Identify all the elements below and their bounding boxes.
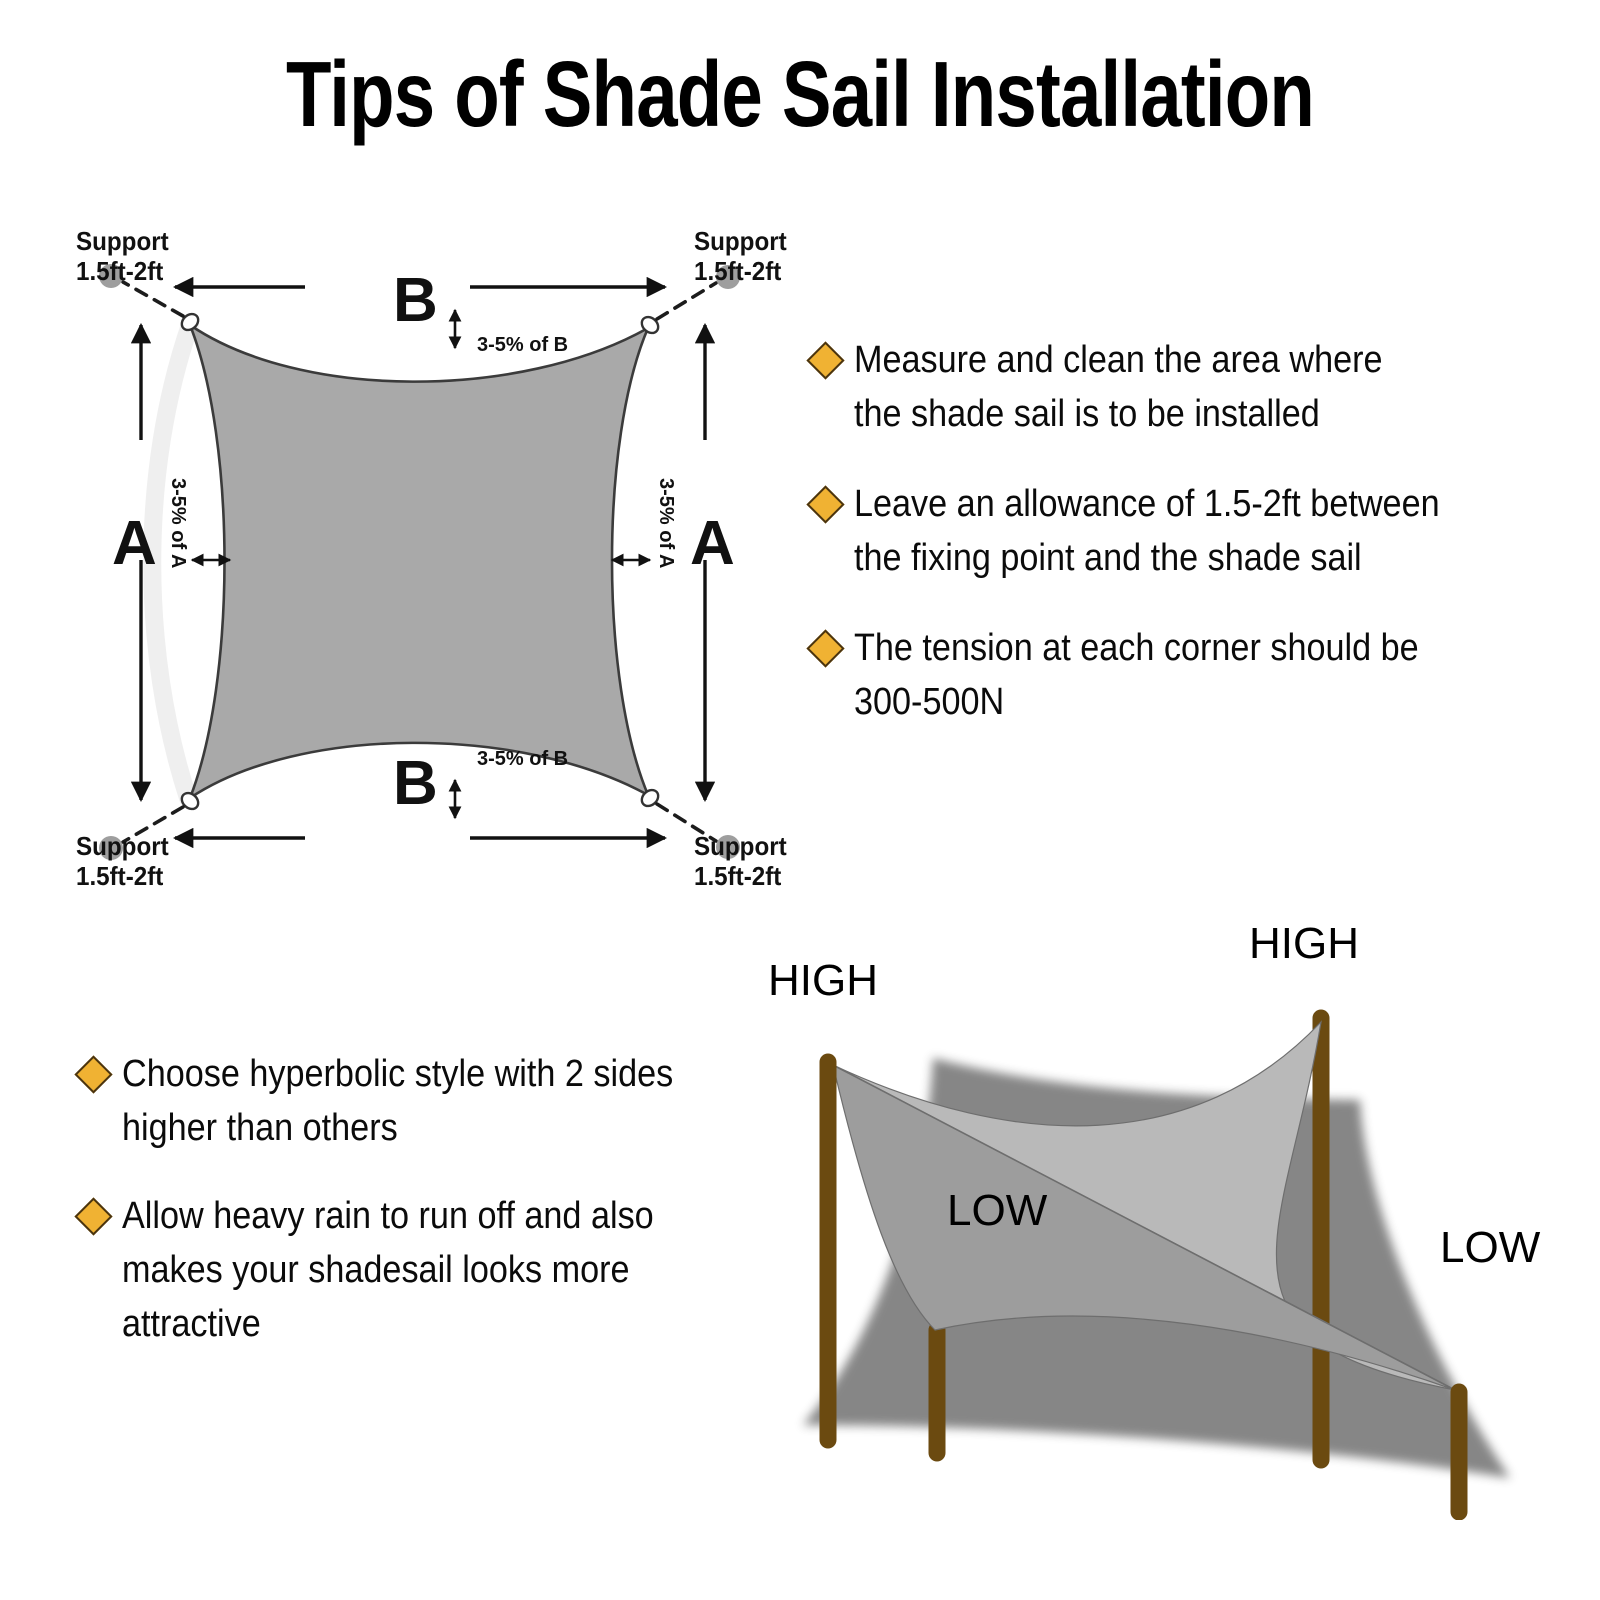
list-item[interactable]: Choose hyperbolic style with 2 sides hig… bbox=[80, 1048, 800, 1156]
support-label-bottom-left: Support1.5ft-2ft bbox=[76, 831, 169, 891]
tip-text: The tension at each corner should be 300… bbox=[854, 622, 1419, 730]
list-item[interactable]: The tension at each corner should be 300… bbox=[812, 622, 1572, 730]
dimension-label-B-top: B bbox=[393, 265, 438, 337]
support-label-line2: 1.5ft-2ft bbox=[694, 861, 781, 891]
post-label-high-left: HIGH bbox=[768, 955, 878, 1006]
page-title: Tips of Shade Sail Installation bbox=[160, 48, 1440, 141]
sail-body bbox=[190, 325, 648, 798]
support-label-top-left: Support1.5ft-2ft bbox=[76, 226, 169, 286]
curve-depth-label-right: 3-5% of A bbox=[654, 478, 677, 568]
diamond-bullet-icon bbox=[74, 1055, 112, 1093]
list-item[interactable]: Measure and clean the area where the sha… bbox=[812, 334, 1572, 442]
tips-list-bottom: Choose hyperbolic style with 2 sides hig… bbox=[80, 1048, 800, 1386]
support-label-line1: Support bbox=[694, 226, 787, 256]
support-label-line2: 1.5ft-2ft bbox=[76, 256, 163, 286]
tip-text: Measure and clean the area where the sha… bbox=[854, 334, 1383, 442]
support-label-line1: Support bbox=[76, 831, 169, 861]
support-label-bottom-right: Support1.5ft-2ft bbox=[694, 831, 787, 891]
post-label-low-right: LOW bbox=[1440, 1222, 1540, 1273]
diamond-bullet-icon bbox=[806, 485, 844, 523]
dimension-label-A-left: A bbox=[112, 508, 157, 580]
tips-list-top: Measure and clean the area where the sha… bbox=[812, 334, 1572, 766]
diamond-bullet-icon bbox=[806, 341, 844, 379]
hyperbolic-sail-diagram bbox=[765, 900, 1595, 1520]
support-label-line1: Support bbox=[76, 226, 169, 256]
post-label-high-right: HIGH bbox=[1249, 918, 1359, 969]
list-item[interactable]: Allow heavy rain to run off and also mak… bbox=[80, 1190, 800, 1352]
tip-text: Choose hyperbolic style with 2 sides hig… bbox=[122, 1048, 673, 1156]
curve-depth-label-top: 3-5% of B bbox=[477, 334, 568, 357]
post-label-low-left: LOW bbox=[947, 1185, 1047, 1236]
dimension-label-B-bottom: B bbox=[393, 748, 438, 820]
support-label-line1: Support bbox=[694, 831, 787, 861]
diamond-bullet-icon bbox=[74, 1197, 112, 1235]
support-label-line2: 1.5ft-2ft bbox=[694, 256, 781, 286]
dimension-label-A-right: A bbox=[690, 508, 735, 580]
diamond-bullet-icon bbox=[806, 629, 844, 667]
list-item[interactable]: Leave an allowance of 1.5-2ft between th… bbox=[812, 478, 1572, 586]
curve-depth-label-left: 3-5% of A bbox=[166, 478, 189, 568]
tip-text: Allow heavy rain to run off and also mak… bbox=[122, 1190, 654, 1352]
support-label-top-right: Support1.5ft-2ft bbox=[694, 226, 787, 286]
support-label-line2: 1.5ft-2ft bbox=[76, 861, 163, 891]
tip-text: Leave an allowance of 1.5-2ft between th… bbox=[854, 478, 1440, 586]
curve-depth-label-bottom: 3-5% of B bbox=[477, 748, 568, 771]
